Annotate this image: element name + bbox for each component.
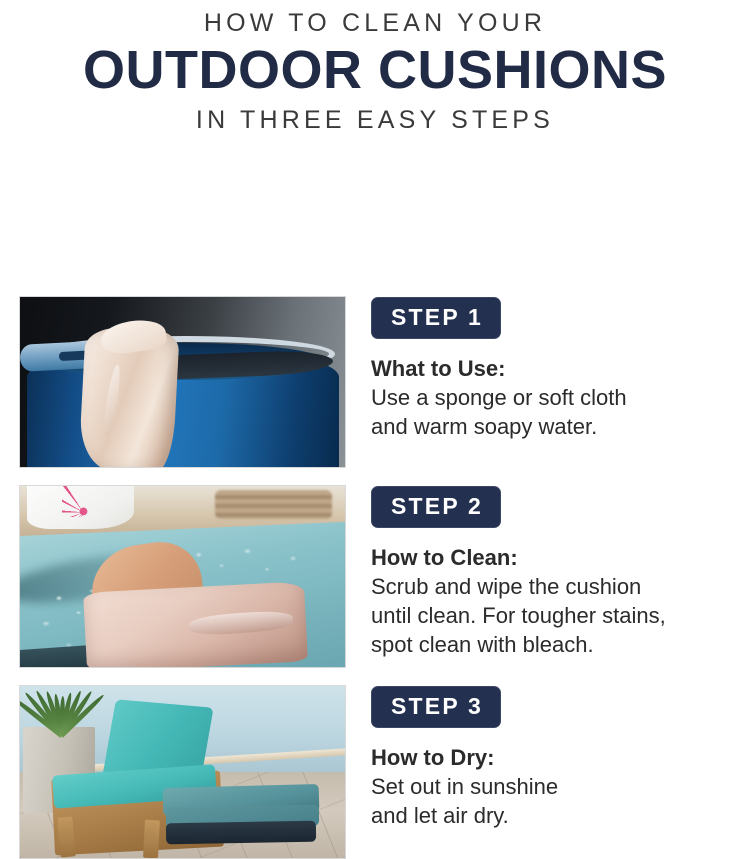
header-headline: OUTDOOR CUSHIONS <box>0 40 750 100</box>
step-3-body: Set out in sunshine and let air dry. <box>371 772 750 830</box>
step-3-photo <box>19 685 346 859</box>
step-row-2: STEP 2 How to Clean: Scrub and wipe the … <box>0 485 750 668</box>
step-3-title: How to Dry: <box>371 745 750 771</box>
agave-plant <box>27 685 95 736</box>
infographic-header: HOW TO CLEAN YOUR OUTDOOR CUSHIONS IN TH… <box>0 0 750 136</box>
step-1-badge: STEP 1 <box>371 297 501 339</box>
step-2-text-column: STEP 2 How to Clean: Scrub and wipe the … <box>371 485 750 659</box>
chair-leg <box>143 820 160 859</box>
step-2-title: How to Clean: <box>371 545 750 571</box>
header-subline: IN THREE EASY STEPS <box>0 104 750 136</box>
step-2-badge: STEP 2 <box>371 486 501 528</box>
step-1-photo <box>19 296 346 468</box>
step-row-1: STEP 1 What to Use: Use a sponge or soft… <box>0 296 750 468</box>
header-kicker: HOW TO CLEAN YOUR <box>0 8 750 38</box>
stacked-cushion-base <box>166 821 316 844</box>
step-3-text-column: STEP 3 How to Dry: Set out in sunshine a… <box>371 685 750 830</box>
step-row-3: STEP 3 How to Dry: Set out in sunshine a… <box>0 685 750 859</box>
step-2-photo <box>19 485 346 668</box>
step-1-body: Use a sponge or soft cloth and warm soap… <box>371 383 750 441</box>
step-3-badge: STEP 3 <box>371 686 501 728</box>
step-2-body: Scrub and wipe the cushion until clean. … <box>371 572 750 659</box>
step-1-text-column: STEP 1 What to Use: Use a sponge or soft… <box>371 296 750 441</box>
step-1-title: What to Use: <box>371 356 750 382</box>
cloth-fold <box>101 363 123 438</box>
